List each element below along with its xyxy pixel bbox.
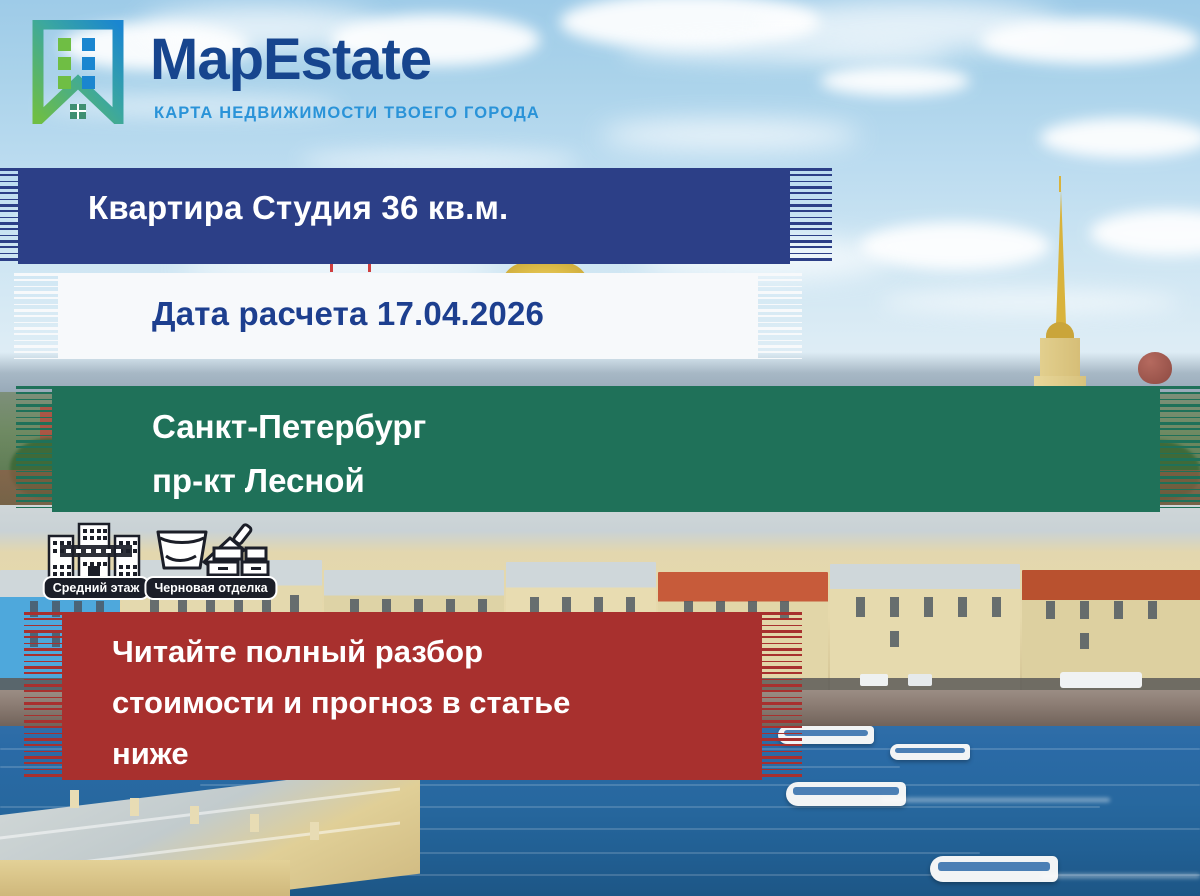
cloud-icon bbox=[1040, 118, 1200, 158]
bus-icon bbox=[1060, 672, 1142, 688]
van-icon bbox=[860, 674, 888, 686]
feature-label: Черновая отделка bbox=[144, 576, 277, 600]
paint-bucket-trowel-bricks-icon bbox=[152, 518, 270, 580]
cta-message: Читайте полный разбор стоимости и прогно… bbox=[112, 626, 752, 779]
location-address: Санкт-Петербург пр-кт Лесной bbox=[152, 400, 1052, 508]
map-bookmark-building-icon bbox=[32, 20, 124, 124]
boat-icon bbox=[930, 856, 1058, 882]
feature-rough-finish: Черновая отделка bbox=[152, 518, 270, 600]
peter-and-paul-fortress-icon bbox=[1010, 190, 1130, 395]
brand-logo[interactable]: MapEstate КАРТА НЕДВИЖИМОСТИ ТВОЕГО ГОРО… bbox=[32, 18, 542, 126]
brush-fray-right bbox=[756, 612, 802, 780]
promo-poster: MapEstate КАРТА НЕДВИЖИМОСТИ ТВОЕГО ГОРО… bbox=[0, 0, 1200, 896]
cloud-icon bbox=[620, 38, 950, 64]
calculation-date: Дата расчета 17.04.2026 bbox=[152, 295, 772, 333]
brand-tagline: КАРТА НЕДВИЖИМОСТИ ТВОЕГО ГОРОДА bbox=[154, 104, 540, 123]
cloud-icon bbox=[600, 120, 860, 150]
brand-name: MapEstate bbox=[150, 26, 431, 93]
boat-icon bbox=[890, 744, 970, 760]
feature-label: Средний этаж bbox=[43, 576, 150, 600]
feature-middle-floor: Средний этаж bbox=[46, 518, 146, 600]
boat-icon bbox=[786, 782, 906, 806]
van-icon bbox=[908, 674, 932, 686]
red-dome-icon bbox=[1138, 352, 1172, 384]
brush-fray-left bbox=[14, 273, 60, 359]
cloud-icon bbox=[820, 66, 970, 96]
apartment-title: Квартира Студия 36 кв.м. bbox=[88, 189, 788, 227]
brush-fray-right bbox=[786, 168, 832, 264]
brush-fray-right bbox=[1154, 386, 1200, 512]
foreground-facade bbox=[0, 860, 290, 896]
cloud-icon bbox=[980, 18, 1200, 64]
buildings-middle-floor-icon bbox=[46, 518, 146, 580]
